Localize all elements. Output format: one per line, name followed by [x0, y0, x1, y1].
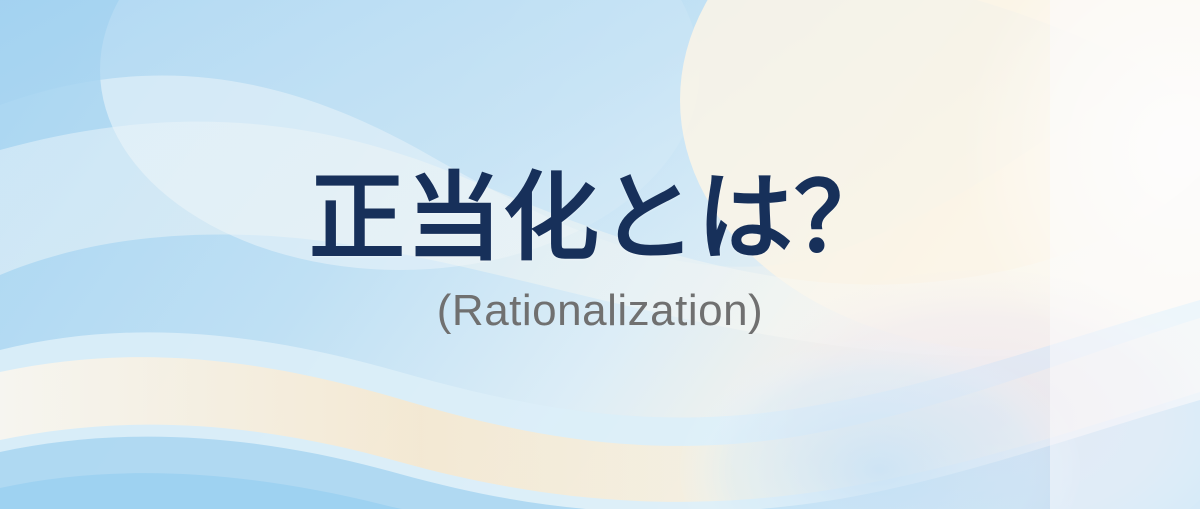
- page-title: 正当化とは？: [309, 167, 891, 271]
- banner-content: 正当化とは？ (Rationalization): [0, 0, 1200, 509]
- title-banner: 正当化とは？ (Rationalization): [0, 0, 1200, 509]
- page-subtitle: (Rationalization): [437, 286, 763, 336]
